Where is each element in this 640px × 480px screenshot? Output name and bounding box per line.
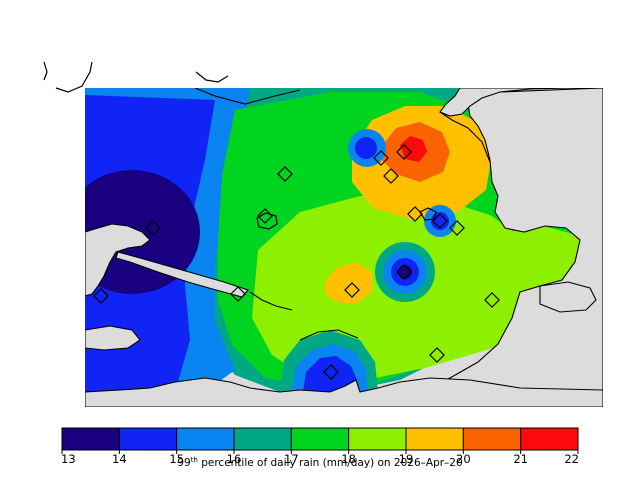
contour-cell-north-minimum-core xyxy=(355,137,377,159)
colorbar-tick-label: 13 xyxy=(61,452,76,466)
colorbar-band[interactable] xyxy=(406,428,463,450)
contour-layer xyxy=(64,88,603,407)
colorbar-caption: 99th percentile of daily rain (mm/day) o… xyxy=(177,456,462,469)
colorbar-band[interactable] xyxy=(119,428,176,450)
colorbar-bands[interactable] xyxy=(62,428,578,450)
colorbar-tick-label: 21 xyxy=(513,452,528,466)
colorbar-band[interactable] xyxy=(234,428,291,450)
contour-map[interactable] xyxy=(0,0,640,420)
colorbar-band[interactable] xyxy=(521,428,578,450)
colorbar-band[interactable] xyxy=(463,428,520,450)
map-panel xyxy=(0,0,640,420)
colorbar-band[interactable] xyxy=(62,428,119,450)
weather-map-page: VictoriaWeather.ca —— Summer Total Daily… xyxy=(0,0,640,480)
colorbar-tick-label: 22 xyxy=(564,452,579,466)
contour-cell-east-minimum-core xyxy=(398,265,412,279)
colorbar-band[interactable] xyxy=(349,428,406,450)
colorbar-panel: 13141516171819202122 99th percentile of … xyxy=(0,420,640,480)
colorbar-band[interactable] xyxy=(291,428,348,450)
colorbar[interactable]: 13141516171819202122 99th percentile of … xyxy=(0,420,640,480)
colorbar-tick-label: 14 xyxy=(112,452,127,466)
colorbar-band[interactable] xyxy=(177,428,234,450)
